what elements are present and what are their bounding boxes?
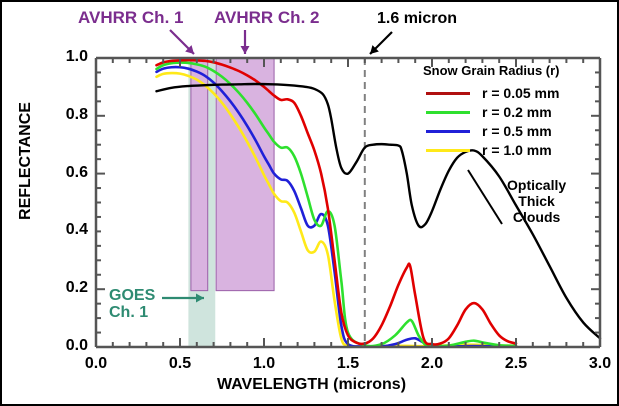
y-tick-label: 0.6 xyxy=(44,164,88,182)
y-tick-label: 1.0 xyxy=(44,48,88,66)
x-tick-label: 2.5 xyxy=(497,355,535,373)
y-tick-label: 0.8 xyxy=(44,106,88,124)
goes-line-2: Ch. 1 xyxy=(109,304,148,321)
goes-line-1: GOES xyxy=(109,287,155,304)
legend-swatch-3 xyxy=(426,149,470,152)
y-axis-label: REFLECTANCE xyxy=(17,91,35,231)
chart-stage: AVHRR Ch. 1 AVHRR Ch. 2 1.6 micron GOES … xyxy=(2,2,617,404)
annotation-avhrr-ch1: AVHRR Ch. 1 xyxy=(78,8,183,28)
x-tick-label: 3.0 xyxy=(581,355,619,373)
avhrr-ch1-band xyxy=(191,58,208,291)
y-tick-label: 0.0 xyxy=(44,337,88,355)
y-tick-label: 0.2 xyxy=(44,279,88,297)
otc-leader-line xyxy=(468,170,502,224)
legend-label-2: r = 0.5 mm xyxy=(482,123,552,139)
legend-label-3: r = 1.0 mm xyxy=(482,142,552,158)
x-axis-label: WAVELENGTH (microns) xyxy=(2,376,619,394)
x-tick-label: 0.5 xyxy=(161,355,199,373)
annotation-avhrr-ch2: AVHRR Ch. 2 xyxy=(214,8,319,28)
arrow-avhrr-ch2-head xyxy=(241,46,250,54)
x-tick-label: 1.0 xyxy=(245,355,283,373)
y-tick-label: 0.4 xyxy=(44,221,88,239)
x-tick-label: 1.5 xyxy=(329,355,367,373)
legend-label-0: r = 0.05 mm xyxy=(482,85,559,101)
legend-title: Snow Grain Radius (r) xyxy=(423,63,560,78)
annotation-1p6-micron: 1.6 micron xyxy=(377,10,457,28)
otc-line-1: Optically xyxy=(507,177,566,193)
chart-figure: AVHRR Ch. 1 AVHRR Ch. 2 1.6 micron GOES … xyxy=(0,0,619,406)
x-tick-label: 0.0 xyxy=(77,355,115,373)
legend-swatch-0 xyxy=(426,92,470,95)
legend-swatch-1 xyxy=(426,111,470,114)
x-tick-label: 2.0 xyxy=(413,355,451,373)
annotation-goes-ch1: GOES Ch. 1 xyxy=(109,287,155,321)
legend-label-1: r = 0.2 mm xyxy=(482,104,552,120)
annotation-optically-thick-clouds: Optically Thick Clouds xyxy=(507,177,566,225)
otc-line-3: Clouds xyxy=(513,209,560,225)
legend-swatch-2 xyxy=(426,130,470,133)
otc-line-2: Thick xyxy=(518,193,555,209)
